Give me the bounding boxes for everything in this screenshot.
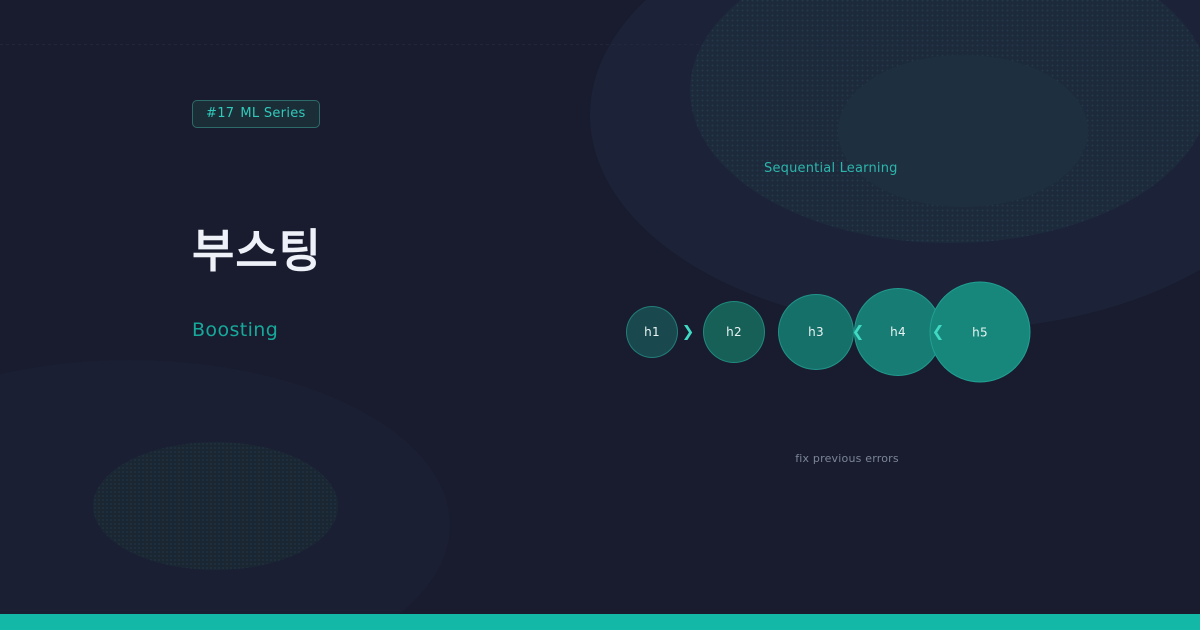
slide-canvas: #17ML Series 부스팅 Boosting Sequential Lea…	[0, 0, 1200, 630]
bottom-accent-bar	[0, 614, 1200, 630]
learner-node-h2: h2	[703, 301, 765, 363]
learner-node-label: h5	[972, 325, 988, 339]
page-title-korean: 부스팅	[192, 226, 612, 277]
decor-ellipse-bottom-left-outer	[0, 360, 450, 630]
decor-hairline	[0, 44, 1200, 45]
diagram-caption-top: Sequential Learning	[764, 161, 898, 176]
chain-arrow-icon: ❯	[682, 325, 695, 340]
diagram-caption-bottom: fix previous errors	[795, 452, 899, 465]
learner-node-label: h2	[726, 325, 742, 339]
hero-text-column: #17ML Series 부스팅 Boosting	[192, 100, 612, 341]
learner-node-label: h1	[644, 325, 660, 339]
chain-arrow-icon: ❮	[852, 325, 865, 340]
learner-node-label: h3	[808, 325, 824, 339]
series-badge: #17ML Series	[192, 100, 320, 128]
learner-node-h5: h5	[930, 282, 1031, 383]
learner-node-h1: h1	[626, 306, 678, 358]
learner-node-h3: h3	[778, 294, 854, 370]
sequential-node-chain: h1h2h3h4h5❯❮❮	[612, 272, 1082, 392]
chain-arrow-icon: ❮	[932, 325, 945, 340]
decor-ellipse-bottom-left-inner	[93, 442, 338, 570]
series-badge-label: ML Series	[240, 106, 305, 121]
page-subtitle-english: Boosting	[192, 319, 612, 341]
learner-node-label: h4	[890, 325, 906, 339]
boosting-diagram: Sequential Learning h1h2h3h4h5❯❮❮ fix pr…	[612, 150, 1082, 480]
series-badge-number: #17	[206, 106, 234, 121]
